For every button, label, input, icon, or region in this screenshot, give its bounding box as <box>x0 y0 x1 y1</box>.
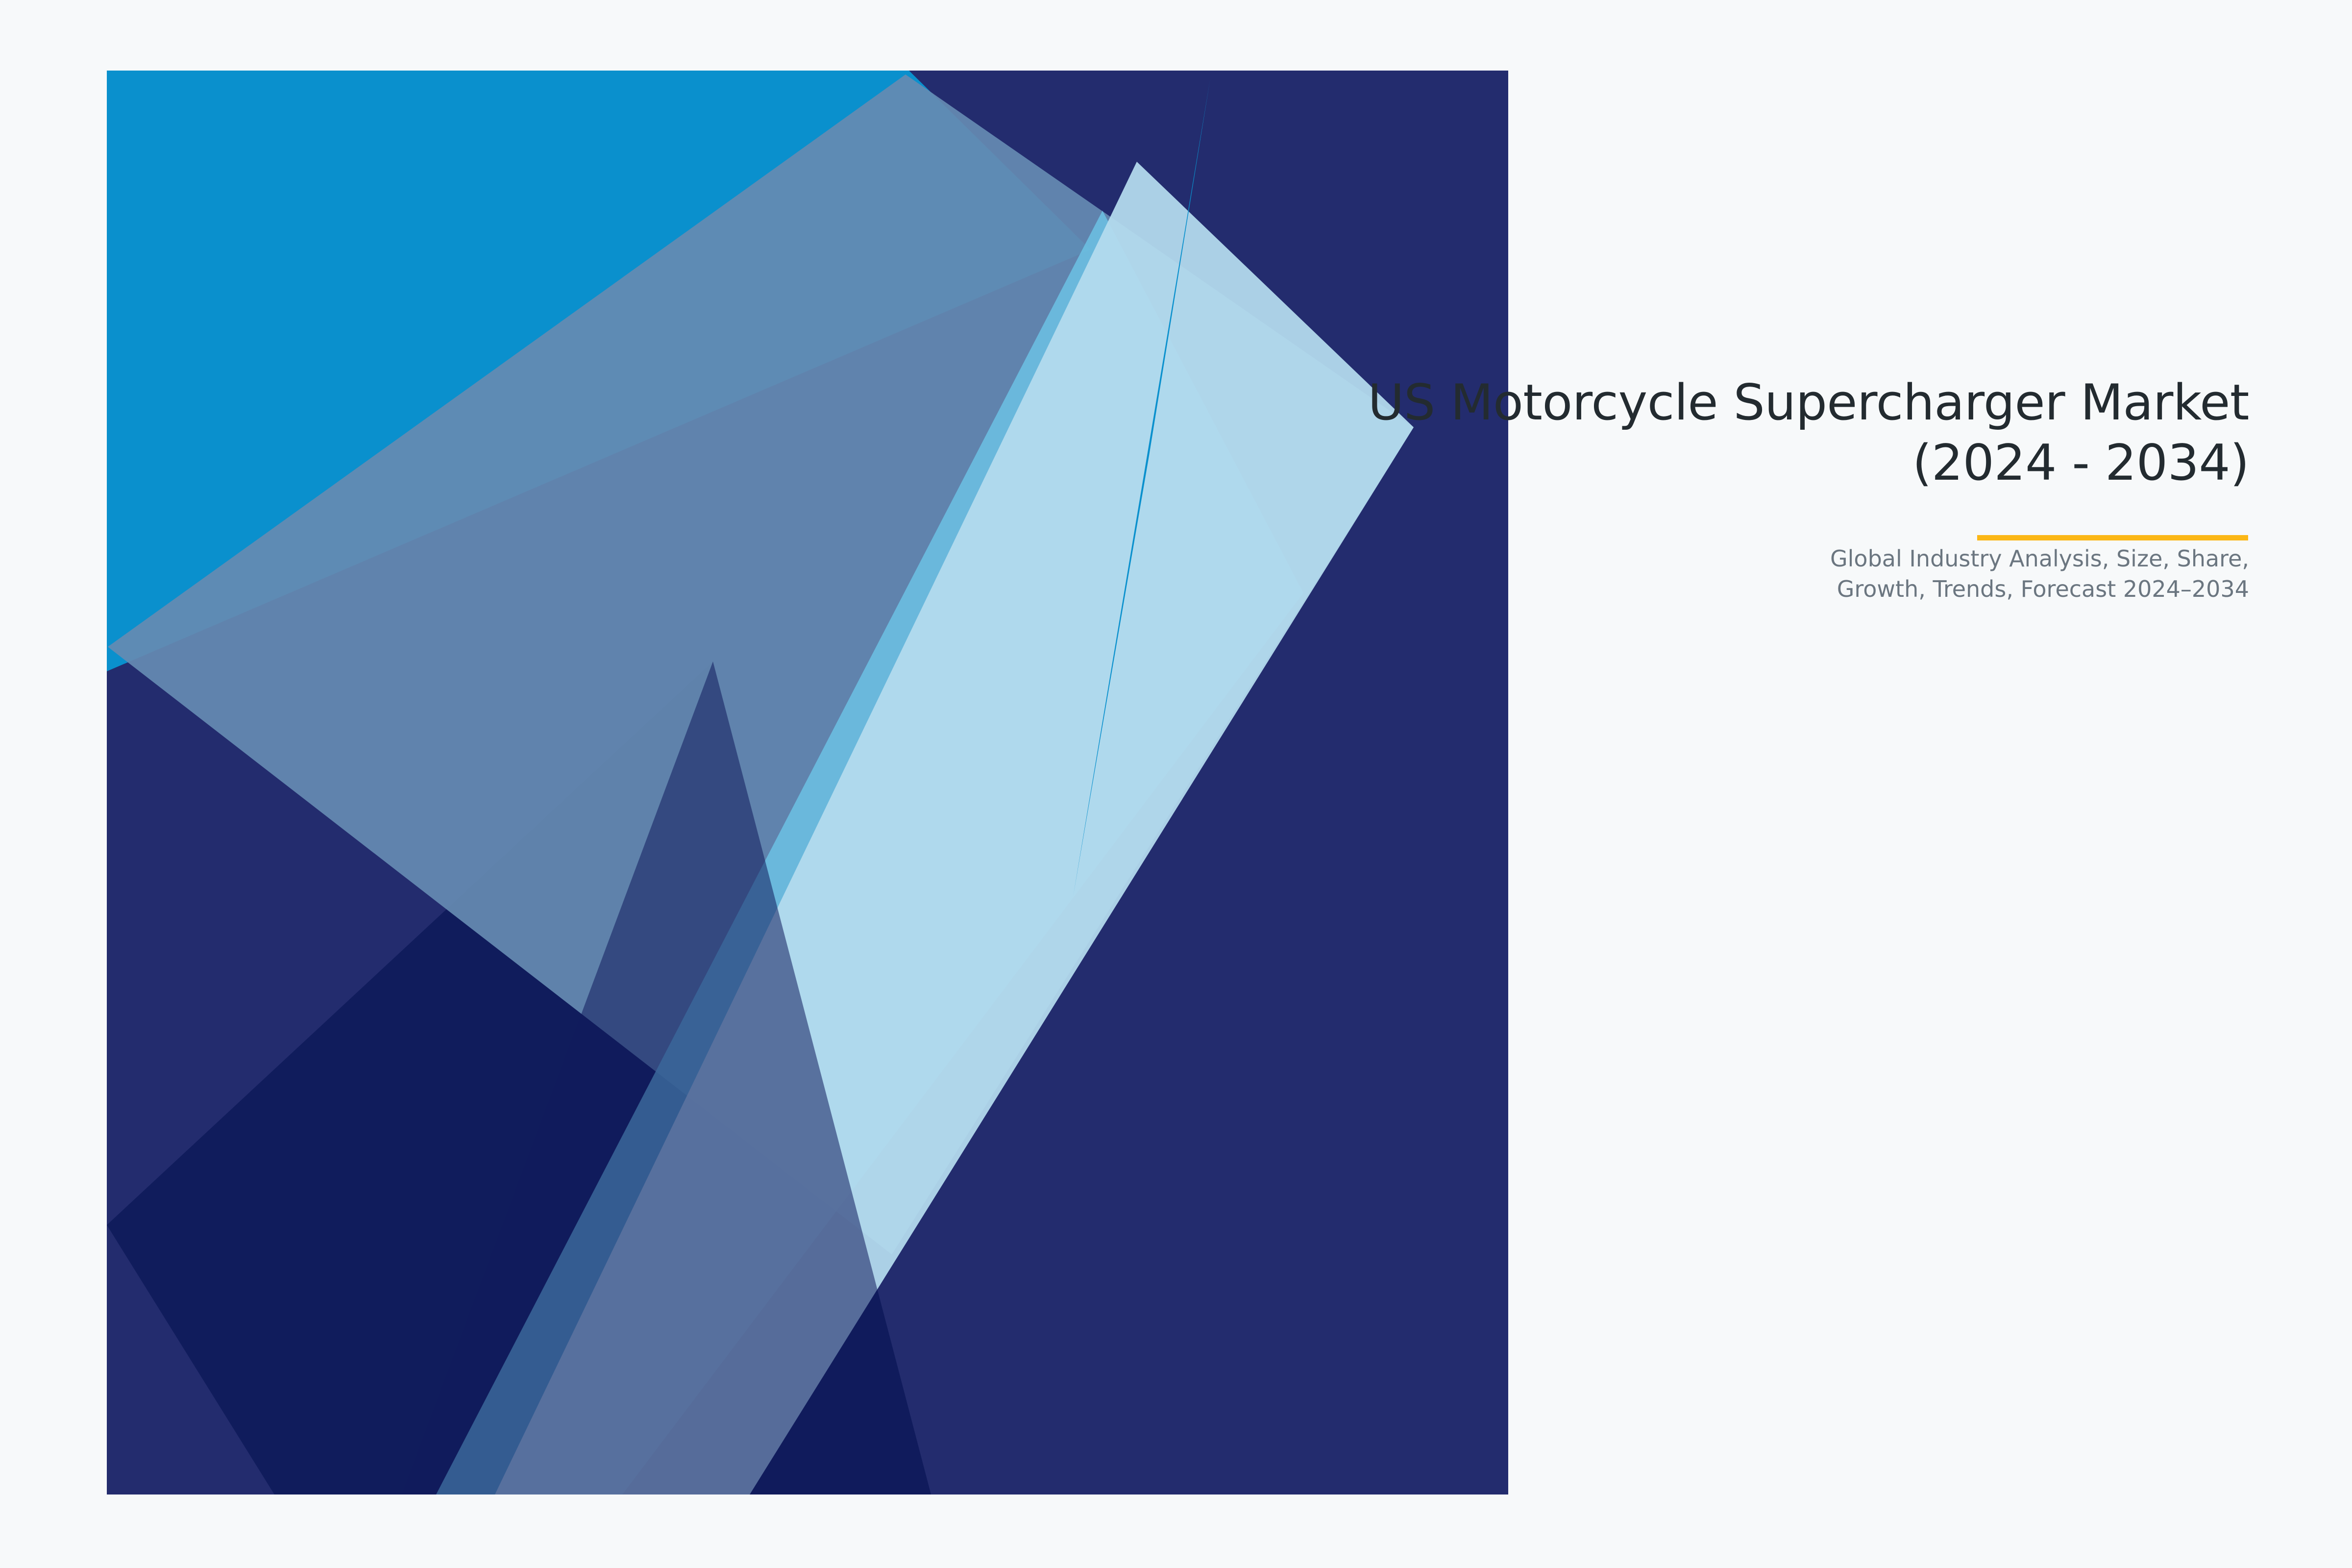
page-subtitle: Global Industry Analysis, Size, Share, G… <box>735 493 2249 604</box>
page-title: US Motorcycle Supercharger Market (2024 … <box>735 372 2249 493</box>
title-accent-underline <box>1977 535 2248 540</box>
cover-text-block: US Motorcycle Supercharger Market (2024 … <box>735 372 2249 604</box>
report-cover: US Motorcycle Supercharger Market (2024 … <box>0 0 2352 1568</box>
title-wrap: US Motorcycle Supercharger Market (2024 … <box>735 372 2249 493</box>
abstract-polygon-graphic <box>0 0 2352 1568</box>
